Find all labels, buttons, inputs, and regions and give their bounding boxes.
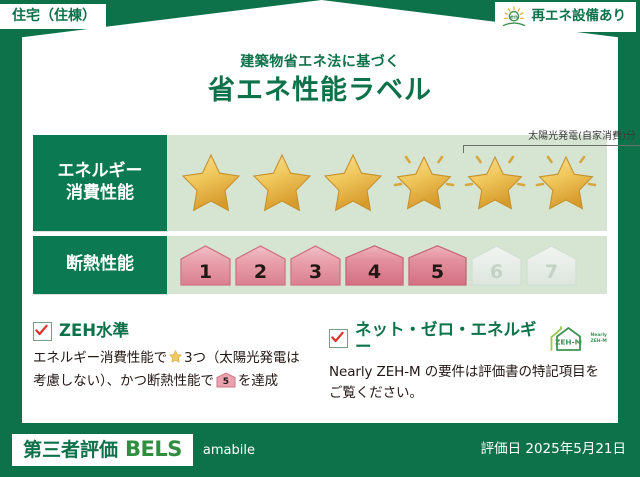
star-icon-solar [461,148,529,218]
zeh-checkbox[interactable] [33,322,52,341]
net-zero-energy-block: ネット・ゼロ・エネルギー ZEH-M Nearly ZEH-M Nearly Z… [329,322,607,403]
building-type-tag: 住宅（住棟） [0,4,106,29]
zeh-m-logo: ZEH-M Nearly ZEH-M [548,326,607,352]
zeh-desc-part1: エネルギー消費性能で [33,350,167,366]
page-title: 省エネ性能ラベル [0,75,640,106]
energy-label-line2: 消費性能 [66,183,134,203]
zeh-standard-title: ZEH水準 [59,323,129,340]
insulation-chip: 1 [179,244,232,286]
third-party-evaluation-label: 第三者評価 [23,441,118,460]
zeh-m-sub-line2: ZEH-M [590,339,606,344]
svg-text:ZEH-M: ZEH-M [555,337,582,346]
star-icon [177,148,245,218]
insulation-chip-number: 7 [525,263,578,282]
insulation-level-chips: 1 2 3 4 5 [179,244,578,286]
zeh-standard-block: ZEH水準 エネルギー消費性能で3つ（太陽光発電は考慮しない）、かつ断熱性能で5… [33,322,311,403]
insulation-chip-number: 4 [344,263,405,282]
energy-row-label: エネルギー 消費性能 [33,135,167,231]
insulation-chip-number: 1 [179,263,232,282]
zeh-m-logo-sublabel: Nearly ZEH-M [590,333,607,343]
bels-logo-text: BELS [125,439,182,460]
zeh-desc-part3: を達成 [238,373,278,389]
label-title-block: 建築物省エネ法に基づく 省エネ性能ラベル [0,55,640,106]
inline-star-icon [168,349,183,371]
title-subtitle: 建築物省エネ法に基づく [0,55,640,70]
star-icon-solar [390,148,458,218]
energy-performance-label: 住宅（住棟） en 再エネ設備あり 建築物省エネ法に基づく 省エ [0,0,640,477]
insulation-chip-number: 2 [234,263,287,282]
sun-solar-icon: en [501,6,527,28]
insulation-chip-number: 3 [289,263,342,282]
insulation-chip-current: 5 [407,244,468,286]
insulation-chip-number: 6 [470,263,523,282]
zeh-desc-star-count: 3つ（太陽光発電 [184,350,286,366]
star-icon [319,148,387,218]
insulation-chip-disabled: 6 [470,244,523,286]
star-icon [248,148,316,218]
insulation-row-label: 断熱性能 [33,236,167,294]
zeh-standard-description: エネルギー消費性能で3つ（太陽光発電は考慮しない）、かつ断熱性能で5を達成 [33,348,311,391]
inline-insulation-chip-icon: 5 [216,372,236,388]
insulation-chip-disabled: 7 [525,244,578,286]
star-icon-solar [532,148,600,218]
zeh-standard-header: ZEH水準 [33,322,311,341]
insulation-row-value: 1 2 3 4 5 [167,236,607,294]
ratings-section: エネルギー 消費性能 太陽光発電(自家消費)分 [33,135,607,294]
label-footer: 第三者評価 BELS amabile 評価日 2025年5月21日 [0,423,640,477]
svg-text:en: en [510,15,518,21]
owner-name: amabile [203,444,255,457]
bels-certification-badge: 第三者評価 BELS [12,434,193,466]
insulation-row: 断熱性能 1 2 3 [33,236,607,294]
net-zero-description: Nearly ZEH-M の要件は評価書の特記項目をご覧ください。 [329,362,607,403]
inline-chip-number: 5 [216,378,236,387]
criteria-section: ZEH水準 エネルギー消費性能で3つ（太陽光発電は考慮しない）、かつ断熱性能で5… [33,322,607,403]
net-zero-title: ネット・ゼロ・エネルギー [355,322,537,355]
insulation-chip: 3 [289,244,342,286]
energy-consumption-row: エネルギー 消費性能 太陽光発電(自家消費)分 [33,135,607,231]
energy-label-line1: エネルギー [58,161,143,181]
insulation-chip: 4 [344,244,405,286]
insulation-chip: 2 [234,244,287,286]
star-rating [177,148,600,218]
net-zero-checkbox[interactable] [329,329,348,348]
renewable-equipment-badge: en 再エネ設備あり [495,2,637,32]
renewable-badge-label: 再エネ設備あり [532,10,627,24]
insulation-chip-number: 5 [407,263,468,282]
evaluation-date: 評価日 2025年5月21日 [481,443,626,457]
energy-row-value: 太陽光発電(自家消費)分 [167,135,607,231]
net-zero-header: ネット・ゼロ・エネルギー ZEH-M Nearly ZEH-M [329,322,607,355]
